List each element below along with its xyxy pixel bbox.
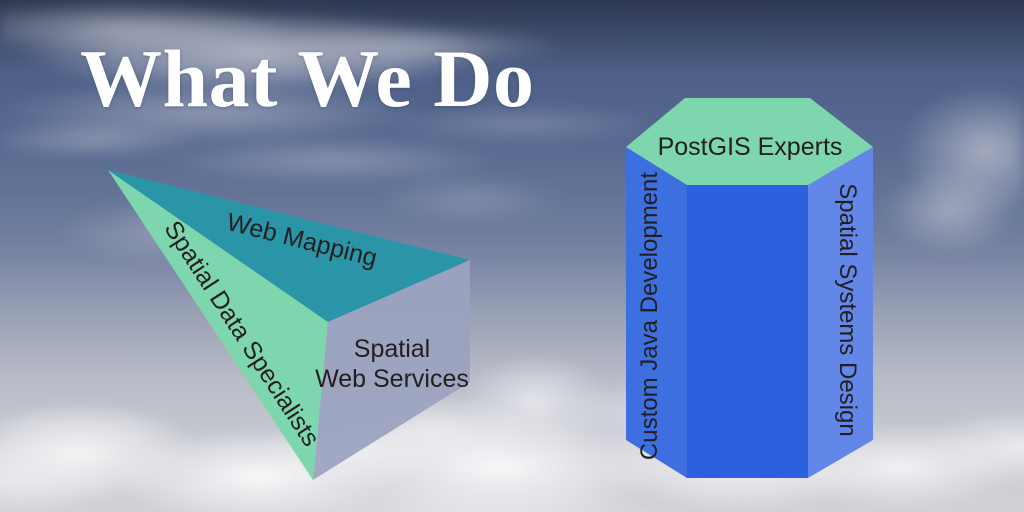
custom-java-development-label: Custom Java Development bbox=[636, 172, 663, 460]
hexagonal-prism: PostGIS Experts Custom Java Development … bbox=[626, 98, 873, 478]
shapes-layer: Web Mapping Spatial Data Specialists Spa… bbox=[0, 0, 1024, 512]
spatial-systems-design-label: Spatial Systems Design bbox=[834, 183, 861, 436]
spatial-web-services-label-line2: Web Services bbox=[315, 365, 469, 393]
graphic-canvas: What We Do Web Mapping Spatial Data Spec… bbox=[0, 0, 1024, 512]
triangular-prism: Web Mapping Spatial Data Specialists Spa… bbox=[108, 170, 470, 480]
postgis-experts-label: PostGIS Experts bbox=[658, 133, 843, 161]
hexagonal-prism-front-face bbox=[687, 185, 808, 478]
spatial-web-services-label-line1: Spatial bbox=[354, 335, 430, 363]
